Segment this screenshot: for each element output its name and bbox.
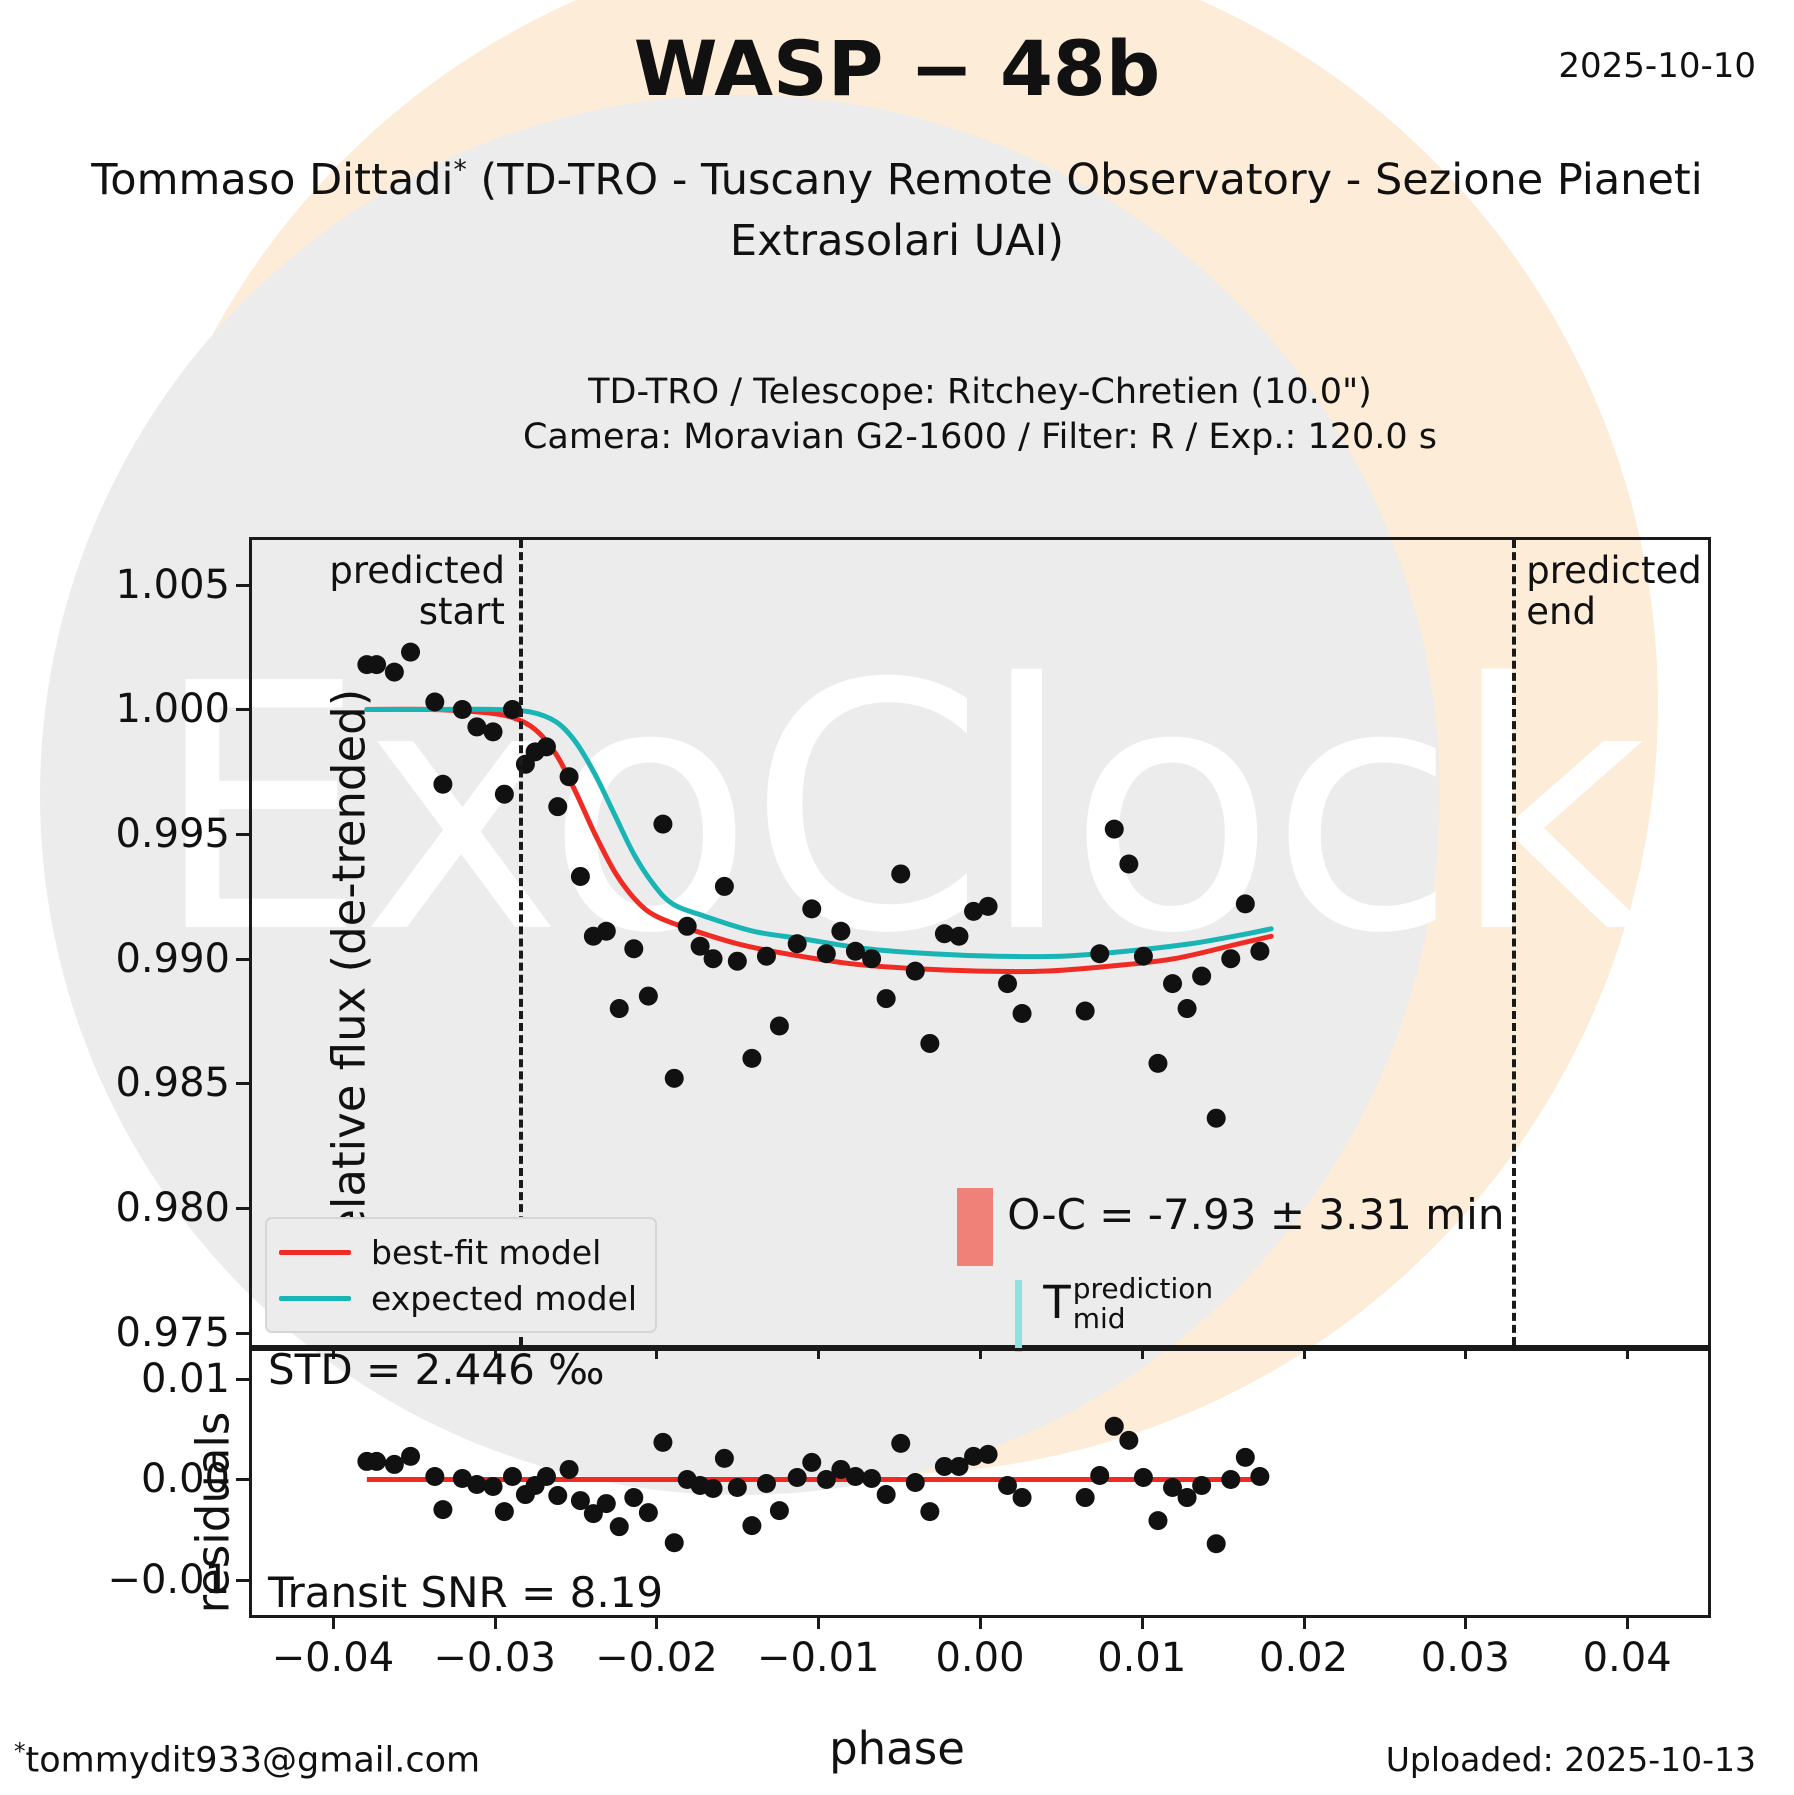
- y-tick-label-main: 0.975: [115, 1310, 230, 1356]
- residual-point: [728, 1478, 747, 1497]
- residual-point: [467, 1475, 486, 1494]
- residual-point: [560, 1460, 579, 1479]
- oc-error-bar-swatch: [957, 1188, 993, 1266]
- data-point: [831, 922, 850, 941]
- residual-point: [1013, 1488, 1032, 1507]
- residual-point: [484, 1477, 503, 1496]
- data-point: [877, 989, 896, 1008]
- data-point: [704, 949, 723, 968]
- predicted-end-label: predicted end: [1526, 550, 1702, 633]
- data-point: [1119, 854, 1138, 873]
- residual-point: [385, 1455, 404, 1474]
- std-label: STD = 2.446 ‰: [268, 1345, 605, 1394]
- data-point: [1090, 944, 1109, 963]
- residual-point: [862, 1469, 881, 1488]
- residual-point: [1076, 1488, 1095, 1507]
- lightcurve-plot-panel: relative flux (de-trended) 1.0051.0000.9…: [249, 537, 1711, 1348]
- residual-point: [715, 1449, 734, 1468]
- data-point: [998, 974, 1017, 993]
- residual-point: [788, 1468, 807, 1487]
- x-tick-residual: [1303, 1615, 1306, 1629]
- residual-point: [1221, 1470, 1240, 1489]
- data-point: [742, 1049, 761, 1068]
- x-tick-residual: [1141, 1615, 1144, 1629]
- residual-point: [846, 1467, 865, 1486]
- legend-item-best-fit: best-fit model: [279, 1229, 637, 1275]
- model-curve-best-fit-model: [367, 709, 1271, 971]
- data-point: [401, 643, 420, 662]
- x-tick-label: −0.02: [595, 1635, 718, 1681]
- y-tick-label-main: 0.980: [115, 1185, 230, 1231]
- data-point: [1250, 942, 1269, 961]
- x-tick-label: 0.00: [935, 1635, 1024, 1681]
- data-point: [906, 962, 925, 981]
- data-point: [1178, 999, 1197, 1018]
- data-point: [610, 999, 629, 1018]
- model-curve-expected-model: [367, 709, 1271, 956]
- y-tick-residual: [236, 1378, 250, 1381]
- residual-point: [624, 1488, 643, 1507]
- data-point: [1134, 947, 1153, 966]
- residual-point: [597, 1494, 616, 1513]
- legend-item-expected: expected model: [279, 1275, 637, 1321]
- residual-point: [1090, 1466, 1109, 1485]
- data-point: [949, 927, 968, 946]
- data-point: [757, 947, 776, 966]
- residual-point: [704, 1479, 723, 1498]
- x-tick-label: 0.02: [1259, 1635, 1348, 1681]
- x-tick-label: −0.03: [433, 1635, 556, 1681]
- data-point: [385, 663, 404, 682]
- transit-snr-label: Transit SNR = 8.19: [268, 1568, 663, 1617]
- predicted-end-line: [1512, 540, 1516, 1345]
- legend-label-best-fit: best-fit model: [371, 1233, 601, 1272]
- x-tick-residual: [1626, 1615, 1629, 1629]
- y-tick-main: [236, 1207, 250, 1210]
- data-point: [1148, 1054, 1167, 1073]
- residual-point: [802, 1453, 821, 1472]
- tmid-symbol: T: [1043, 1276, 1071, 1329]
- data-point: [653, 815, 672, 834]
- residual-point: [548, 1486, 567, 1505]
- upload-date: Uploaded: 2025-10-13: [1386, 1740, 1756, 1779]
- page-title: WASP − 48b: [0, 24, 1794, 113]
- residual-point: [401, 1447, 420, 1466]
- residual-point: [757, 1474, 776, 1493]
- predicted-start-label: predicted start: [329, 550, 505, 633]
- residual-point: [1250, 1467, 1269, 1486]
- residual-point: [653, 1433, 672, 1452]
- data-point: [665, 1069, 684, 1088]
- data-point: [433, 775, 452, 794]
- email-marker: *: [14, 1739, 26, 1765]
- y-tick-main: [236, 1332, 250, 1335]
- x-tick-residual: [332, 1615, 335, 1629]
- observer-subtitle: Tommaso Dittadi* (TD-TRO - Tuscany Remot…: [30, 150, 1764, 272]
- y-tick-label-main: 0.990: [115, 936, 230, 982]
- residual-point: [1134, 1468, 1153, 1487]
- observer-name: Tommaso Dittadi* (TD-TRO - Tuscany Remot…: [91, 155, 1702, 266]
- data-point: [548, 797, 567, 816]
- residual-point: [1105, 1417, 1124, 1436]
- residual-point: [906, 1473, 925, 1492]
- data-point: [425, 693, 444, 712]
- data-point: [560, 767, 579, 786]
- legend-swatch-expected: [279, 1296, 351, 1301]
- instrument-caption-line2: Camera: Moravian G2-1600 / Filter: R / E…: [249, 415, 1711, 460]
- y-tick-label-residual: −0.01: [107, 1557, 230, 1603]
- y-tick-main: [236, 958, 250, 961]
- residual-point: [639, 1503, 658, 1522]
- y-tick-label-main: 0.995: [115, 811, 230, 857]
- data-point: [728, 952, 747, 971]
- residual-point: [770, 1501, 789, 1520]
- tmid-subscript: mid: [1073, 1304, 1213, 1334]
- residual-point: [610, 1517, 629, 1536]
- tmid-superscript: prediction: [1073, 1274, 1213, 1304]
- residual-point: [433, 1500, 452, 1519]
- y-tick-label-residual: 0.00: [141, 1456, 230, 1502]
- x-tick-label: 0.04: [1583, 1635, 1672, 1681]
- residual-point: [503, 1467, 522, 1486]
- y-tick-residual: [236, 1478, 250, 1481]
- residual-point: [1119, 1431, 1138, 1450]
- instrument-caption: TD-TRO / Telescope: Ritchey-Chretien (10…: [249, 370, 1711, 460]
- data-point: [846, 942, 865, 961]
- y-tick-residual: [236, 1579, 250, 1582]
- y-tick-main: [236, 708, 250, 711]
- legend: best-fit model expected model: [265, 1217, 657, 1333]
- y-tick-label-residual: 0.01: [141, 1356, 230, 1402]
- tmid-prediction-label: Tpredictionmid: [1043, 1276, 1213, 1336]
- x-tick-label: 0.03: [1421, 1635, 1510, 1681]
- data-point: [597, 922, 616, 941]
- data-point: [624, 939, 643, 958]
- y-tick-label-main: 1.005: [115, 562, 230, 608]
- y-tick-main: [236, 1082, 250, 1085]
- y-tick-main: [236, 584, 250, 587]
- data-point: [1207, 1109, 1226, 1128]
- residual-point: [998, 1476, 1017, 1495]
- data-point: [862, 949, 881, 968]
- residual-point: [742, 1516, 761, 1535]
- data-point: [639, 987, 658, 1006]
- residual-point: [1236, 1448, 1255, 1467]
- email-address: tommydit933@gmail.com: [26, 1741, 481, 1781]
- residual-point: [367, 1452, 386, 1471]
- data-point: [1076, 1002, 1095, 1021]
- x-tick-label: −0.04: [272, 1635, 395, 1681]
- data-point: [537, 737, 556, 756]
- y-tick-main: [236, 833, 250, 836]
- residual-point: [665, 1533, 684, 1552]
- oc-value-label: O-C = -7.93 ± 3.31 min: [1007, 1190, 1504, 1239]
- legend-label-expected: expected model: [371, 1279, 637, 1318]
- data-point: [495, 785, 514, 804]
- data-point: [817, 944, 836, 963]
- data-point: [920, 1034, 939, 1053]
- x-tick-label: −0.01: [757, 1635, 880, 1681]
- residual-point: [425, 1467, 444, 1486]
- data-point: [891, 864, 910, 883]
- data-point: [1192, 967, 1211, 986]
- y-tick-label-main: 1.000: [115, 686, 230, 732]
- residual-point: [1178, 1488, 1197, 1507]
- y-tick-label-main: 0.985: [115, 1060, 230, 1106]
- tmid-prediction-swatch: [1015, 1280, 1022, 1352]
- data-point: [802, 899, 821, 918]
- data-point: [770, 1016, 789, 1035]
- x-tick-residual: [655, 1615, 658, 1629]
- residual-point: [891, 1434, 910, 1453]
- data-points-residuals: [357, 1417, 1269, 1553]
- residual-point: [1192, 1476, 1211, 1495]
- data-point: [1105, 820, 1124, 839]
- data-point: [979, 897, 998, 916]
- data-point: [788, 934, 807, 953]
- x-tick-label: 0.01: [1097, 1635, 1186, 1681]
- x-tick-residual: [979, 1615, 982, 1629]
- residual-point: [495, 1502, 514, 1521]
- residuals-plot-panel: residuals 0.010.00−0.01 −0.04−0.03−0.02−…: [249, 1348, 1711, 1618]
- tmid-script-stack: predictionmid: [1073, 1274, 1213, 1333]
- residual-point: [537, 1467, 556, 1486]
- residual-point: [1207, 1534, 1226, 1553]
- data-point: [571, 867, 590, 886]
- x-tick-residual: [817, 1615, 820, 1629]
- data-point: [1221, 949, 1240, 968]
- data-point: [467, 717, 486, 736]
- data-point: [1163, 974, 1182, 993]
- contact-email: *tommydit933@gmail.com: [14, 1739, 480, 1781]
- instrument-caption-line1: TD-TRO / Telescope: Ritchey-Chretien (10…: [249, 370, 1711, 415]
- x-tick-residual: [494, 1615, 497, 1629]
- data-point: [1013, 1004, 1032, 1023]
- data-point: [484, 722, 503, 741]
- x-tick-residual: [1464, 1615, 1467, 1629]
- data-point: [453, 700, 472, 719]
- data-point: [715, 877, 734, 896]
- residual-point: [979, 1445, 998, 1464]
- legend-swatch-best-fit: [279, 1250, 351, 1255]
- data-point: [1236, 894, 1255, 913]
- data-point: [367, 655, 386, 674]
- residual-point: [877, 1485, 896, 1504]
- data-point: [678, 917, 697, 936]
- observation-date: 2025-10-10: [1558, 46, 1756, 86]
- residual-point: [1148, 1511, 1167, 1530]
- residual-point: [920, 1502, 939, 1521]
